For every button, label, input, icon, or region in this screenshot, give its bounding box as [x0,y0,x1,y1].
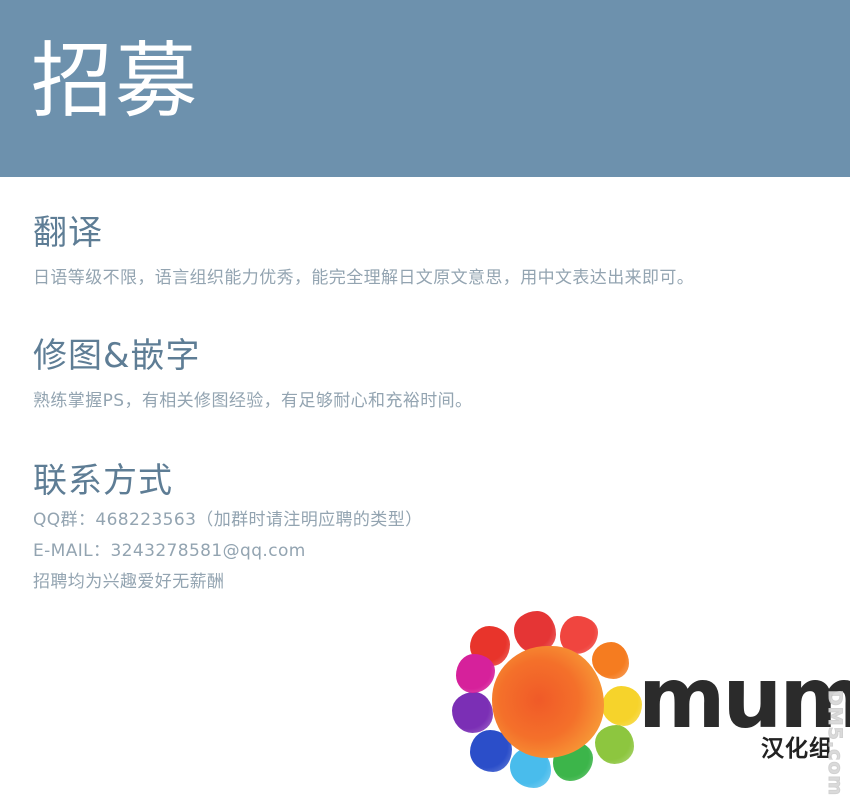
site-watermark: DM5.com [820,678,846,796]
logo-wordmark: mum [638,656,850,740]
section-retouch-body: 熟练掌握PS，有相关修图经验，有足够耐心和充裕时间。 [33,389,472,414]
dot-lime-icon [595,725,634,764]
page-header-banner: 招募 [0,0,850,177]
contact-note-unpaid: 招聘均为兴趣爱好无薪酬 [33,570,423,595]
section-translate-title: 翻译 [33,212,694,254]
group-logo: mum 汉化组 [452,608,850,800]
section-contact-title: 联系方式 [33,460,423,502]
center-blob-icon [492,646,604,758]
page-title: 招募 [31,34,199,130]
section-translate-body: 日语等级不限，语言组织能力优秀，能完全理解日文原文意思，用中文表达出来即可。 [33,266,694,291]
dot-orange-icon [592,642,629,679]
section-retouch-title: 修图&嵌字 [33,335,472,377]
section-translate: 翻译 日语等级不限，语言组织能力优秀，能完全理解日文原文意思，用中文表达出来即可… [33,212,694,291]
contact-qq-group: QQ群：468223563（加群时请注明应聘的类型） [33,508,423,533]
section-retouch: 修图&嵌字 熟练掌握PS，有相关修图经验，有足够耐心和充裕时间。 [33,335,472,414]
contact-email: E-MAIL：3243278581@qq.com [33,539,423,564]
watercolor-dot-ring-icon [452,608,652,793]
dot-purple-icon [452,692,493,733]
dot-magenta-icon [456,654,495,693]
dot-yellow-icon [602,686,642,726]
section-contact: 联系方式 QQ群：468223563（加群时请注明应聘的类型） E-MAIL：3… [33,460,423,595]
